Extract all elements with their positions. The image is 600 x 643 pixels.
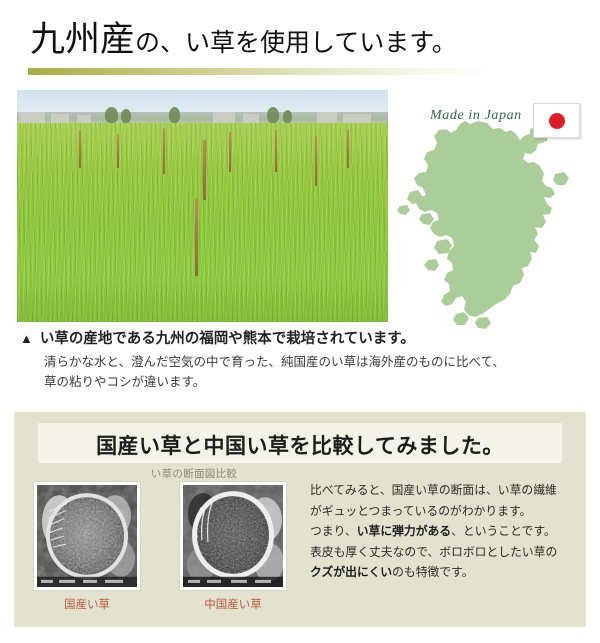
line4-plain: 表皮も厚く丈夫なので、ボロボロとしたい草の bbox=[310, 545, 557, 559]
comparison-text-line-3: つまり、い草に弾力がある、ということです。 bbox=[310, 521, 578, 542]
comparison-panel: 国産い草と中国い草を比較してみました。 い草の断面図比較 bbox=[14, 412, 586, 627]
line2-plain: がギュッとつまっているのがわかります。 bbox=[310, 504, 531, 518]
kyushu-map bbox=[392, 118, 587, 333]
micrograph-domestic-image bbox=[37, 485, 137, 587]
comparison-body-text: 比べてみると、国産い草の断面は、い草の繊維 がギュッとつまっているのがわかります… bbox=[310, 480, 578, 583]
photo-caption-headline-text: い草の産地である九州の福岡や熊本で栽培されています。 bbox=[40, 331, 415, 347]
page-title-rest: の、い草を使用しています。 bbox=[135, 30, 457, 57]
micrograph-domestic bbox=[34, 482, 140, 590]
title-underline-bar bbox=[28, 68, 493, 75]
micrograph-chinese bbox=[180, 482, 286, 590]
page-title-emphasis: 九州産 bbox=[30, 20, 135, 59]
line3-bold: い草に弾力がある bbox=[357, 524, 451, 538]
comparison-text-line-1: 比べてみると、国産い草の断面は、い草の繊維 bbox=[310, 480, 578, 501]
comparison-text-line-5: クズが出にくいのも特徴です。 bbox=[310, 562, 578, 583]
photo-caption-body: 清らかな水と、澄んだ空気の中で育った、純国産のい草は海外産のものに比べて、 草の… bbox=[44, 352, 564, 392]
micrograph-domestic-caption: 国産い草 bbox=[34, 596, 140, 612]
product-description-page: 九州産の、い草を使用しています。 bbox=[0, 0, 600, 643]
micrograph-chinese-image bbox=[183, 485, 283, 587]
comparison-text-line-4: 表皮も厚く丈夫なので、ボロボロとしたい草の bbox=[310, 542, 578, 563]
line5-plain: のも特徴です。 bbox=[392, 565, 473, 579]
micrograph-chinese-caption: 中国産い草 bbox=[180, 596, 286, 612]
line3-plain-b: 、ということです。 bbox=[451, 524, 556, 538]
photo-caption-body-line2: 草の粘りやコシが違います。 bbox=[44, 372, 564, 392]
comparison-text-line-2: がギュッとつまっているのがわかります。 bbox=[310, 501, 578, 522]
photo-caption-body-line1: 清らかな水と、澄んだ空気の中で育った、純国産のい草は海外産のものに比べて、 bbox=[44, 352, 564, 372]
line1-plain: 比べてみると、国産い草の断面は、い草の繊維 bbox=[310, 483, 557, 497]
page-title: 九州産の、い草を使用しています。 bbox=[30, 22, 457, 57]
comparison-heading-text: 国産い草と中国い草を比較してみました。 bbox=[38, 430, 562, 460]
comparison-heading-band: 国産い草と中国い草を比較してみました。 bbox=[38, 423, 562, 463]
flag-red-disc bbox=[549, 113, 565, 129]
made-in-japan-label: Made in Japan bbox=[430, 108, 522, 124]
japan-flag-icon bbox=[533, 103, 580, 138]
photo-caption-headline: ▲い草の産地である九州の福岡や熊本で栽培されています。 bbox=[20, 327, 415, 348]
cross-section-label: い草の断面図比較 bbox=[134, 466, 254, 481]
igusa-field-photo bbox=[17, 90, 388, 322]
line3-plain-a: つまり、 bbox=[310, 524, 357, 538]
line5-bold: クズが出にくい bbox=[310, 565, 392, 579]
triangle-bullet-icon: ▲ bbox=[20, 331, 33, 346]
